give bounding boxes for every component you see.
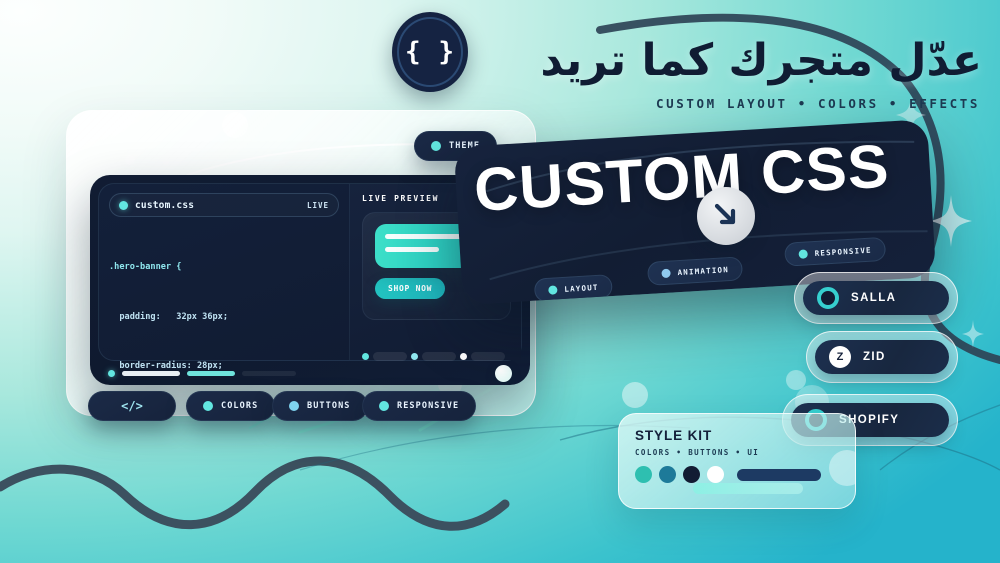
status-dot — [661, 268, 671, 278]
shop-now-button[interactable]: SHOP NOW — [375, 278, 445, 299]
decor-bubble — [786, 370, 806, 390]
status-dot — [431, 141, 441, 151]
editor-pane-code: custom.css LIVE .hero-banner { padding: … — [99, 184, 349, 360]
pagination-dot[interactable] — [362, 353, 369, 360]
pill-buttons[interactable]: BUTTONS — [272, 391, 368, 421]
pill-code[interactable]: </> — [88, 391, 176, 421]
button-preview-bar — [737, 469, 821, 481]
pill-label: COLORS — [221, 401, 258, 411]
style-kit-subtitle: COLORS • BUTTONS • UI — [635, 448, 839, 457]
tag-layout[interactable]: LAYOUT — [534, 274, 614, 303]
sparkle-icon — [962, 320, 984, 348]
pill-label: RESPONSIVE — [397, 401, 459, 411]
editor-status-bar — [98, 365, 522, 381]
color-swatch[interactable] — [707, 466, 724, 483]
drag-handle[interactable] — [495, 365, 512, 382]
style-kit-title: STYLE KIT — [635, 428, 839, 443]
preview-pagination[interactable] — [362, 352, 505, 361]
page-subtitle: CUSTOM LAYOUT • COLORS • EFFECTS — [420, 96, 980, 111]
cursor-indicator[interactable] — [697, 187, 755, 245]
status-dot — [798, 249, 808, 259]
progress-bar — [242, 371, 296, 376]
pill-colors[interactable]: COLORS — [186, 391, 275, 421]
placeholder-line — [385, 247, 439, 252]
tag-label: RESPONSIVE — [814, 245, 872, 257]
platform-badge-zid[interactable]: Z ZID — [806, 331, 958, 383]
decor-bubble — [125, 155, 135, 165]
color-swatch[interactable] — [659, 466, 676, 483]
platform-label: ZID — [863, 351, 886, 363]
ui-preview-bar — [693, 483, 803, 494]
arrow-down-right-cursor-icon — [711, 201, 741, 231]
tag-label: LAYOUT — [564, 282, 599, 293]
color-swatch[interactable] — [683, 466, 700, 483]
status-dot — [379, 401, 389, 411]
progress-bar — [187, 371, 235, 376]
platform-badge-salla[interactable]: SALLA — [794, 272, 958, 324]
pill-label: BUTTONS — [307, 401, 351, 411]
file-name-label: custom.css — [135, 200, 194, 211]
code-tag-icon: </> — [121, 399, 143, 413]
code-line: .hero-banner { — [109, 259, 339, 276]
pill-responsive[interactable]: RESPONSIVE — [362, 391, 476, 421]
decor-bubble — [163, 159, 169, 165]
pagination-dot[interactable] — [460, 353, 467, 360]
swatch-row — [635, 466, 839, 483]
status-dot — [548, 285, 558, 295]
pagination-bar — [422, 352, 456, 361]
z-letter-logo-icon: Z — [829, 346, 851, 368]
ring-logo-icon — [817, 287, 839, 309]
pagination-bar — [471, 352, 505, 361]
platform-label: SALLA — [851, 292, 896, 304]
pagination-dot[interactable] — [411, 353, 418, 360]
tag-label: ANIMATION — [677, 265, 729, 277]
live-badge: LIVE — [307, 201, 329, 210]
status-dot — [289, 401, 299, 411]
page-title: عدّل متجرك كما تريد — [422, 38, 982, 84]
status-dot — [108, 370, 115, 377]
status-dot — [119, 201, 128, 210]
progress-bar — [122, 371, 180, 376]
style-kit-panel: STYLE KIT COLORS • BUTTONS • UI — [618, 413, 856, 509]
pagination-bar — [373, 352, 407, 361]
file-tab[interactable]: custom.css LIVE — [109, 193, 339, 217]
color-swatch[interactable] — [635, 466, 652, 483]
status-dot — [203, 401, 213, 411]
sparkle-icon — [930, 195, 972, 247]
tag-responsive[interactable]: RESPONSIVE — [784, 237, 886, 267]
decor-bubble — [622, 382, 648, 408]
code-block[interactable]: .hero-banner { padding: 32px 36px; borde… — [109, 226, 339, 385]
code-line: padding: 32px 36px; — [109, 309, 339, 326]
